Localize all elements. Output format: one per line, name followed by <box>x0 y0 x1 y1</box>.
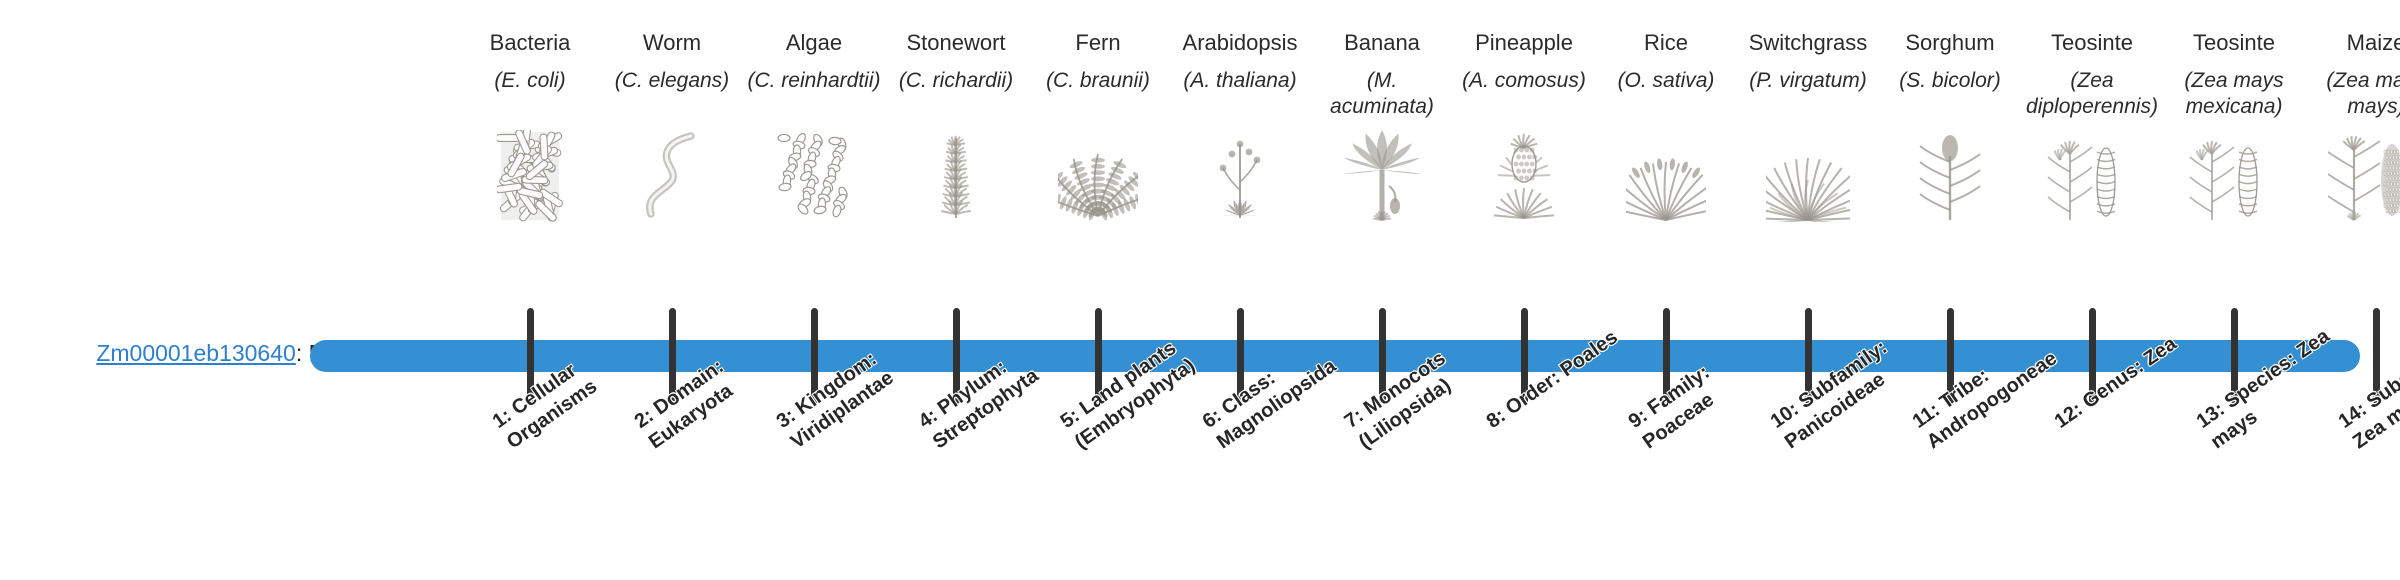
species-scientific-name: (C. elegans) <box>601 68 743 124</box>
pineapple-icon <box>1453 130 1595 222</box>
phylostratum-label[interactable]: 9: Family: Poaceae <box>1624 314 1796 455</box>
stonewort-icon <box>885 130 1027 222</box>
species-column: Switchgrass(P. virgatum) <box>1737 30 1879 222</box>
phylostratum-label[interactable]: 5: Land plants (Embryophyta) <box>1056 314 1228 455</box>
species-column: Algae(C. reinhardtii) <box>743 30 885 222</box>
species-common-name: Teosinte <box>2163 30 2305 60</box>
phylostratum-label[interactable]: 2: Domain: Eukaryota <box>630 314 802 455</box>
species-scientific-name: (S. bicolor) <box>1879 68 2021 124</box>
banana-icon <box>1311 130 1453 222</box>
phylostratum-label[interactable]: 10: Subfamily: Panicoideae <box>1766 314 1938 455</box>
arabidopsis-icon <box>1169 130 1311 222</box>
species-scientific-name: (E. coli) <box>459 68 601 124</box>
species-common-name: Banana <box>1311 30 1453 60</box>
sorghum-icon <box>1879 130 2021 222</box>
phylostratum-label[interactable]: 3: Kingdom: Viridiplantae <box>772 314 944 455</box>
teosinte-ear-icon <box>2021 130 2163 222</box>
species-common-name: Teosinte <box>2021 30 2163 60</box>
species-scientific-name: (A. thaliana) <box>1169 68 1311 124</box>
phylostratigraphy-figure: Zm00001eb130640: Phylostratum 1 Bacteria… <box>0 0 2400 580</box>
phylostratum-label[interactable]: 12: Genus: Zea <box>2050 314 2208 435</box>
rice-icon <box>1595 130 1737 222</box>
species-common-name: Pineapple <box>1453 30 1595 60</box>
bacteria-icon <box>459 130 601 222</box>
species-common-name: Rice <box>1595 30 1737 60</box>
species-column: Bacteria(E. coli) <box>459 30 601 222</box>
phylostratum-label[interactable]: 13: Species: Zea mays <box>2192 314 2364 455</box>
species-common-name: Switchgrass <box>1737 30 1879 60</box>
switchgrass-icon <box>1737 130 1879 222</box>
species-scientific-name: (Zea mays mays) <box>2305 68 2400 124</box>
species-common-name: Arabidopsis <box>1169 30 1311 60</box>
species-scientific-name: (M. acuminata) <box>1311 68 1453 124</box>
species-common-name: Maize <box>2305 30 2400 60</box>
species-column: Teosinte(Zea diploperennis) <box>2021 30 2163 222</box>
species-common-name: Worm <box>601 30 743 60</box>
species-column: Maize(Zea mays mays) <box>2305 30 2400 222</box>
species-column: Stonewort(C. richardii) <box>885 30 1027 222</box>
teosinte-ear-icon <box>2163 130 2305 222</box>
worm-icon <box>601 130 743 222</box>
species-common-name: Algae <box>743 30 885 60</box>
algae-icon <box>743 130 885 222</box>
phylostratum-label[interactable]: 7: Monocots (Liliopsida) <box>1340 314 1512 455</box>
phylostratum-label[interactable]: 6: Class: Magnoliopsida <box>1198 314 1370 455</box>
species-column: Fern(C. braunii) <box>1027 30 1169 222</box>
phylostratum-label[interactable]: 1: Cellular Organisms <box>488 314 660 455</box>
species-column: Rice(O. sativa) <box>1595 30 1737 222</box>
species-scientific-name: (C. reinhardtii) <box>743 68 885 124</box>
maize-ear-icon <box>2305 130 2400 222</box>
species-scientific-name: (Zea diploperennis) <box>2021 68 2163 124</box>
species-common-name: Fern <box>1027 30 1169 60</box>
species-column: Worm(C. elegans) <box>601 30 743 222</box>
phylostratum-label[interactable]: 11: Tribe: Andropogoneae <box>1908 314 2080 455</box>
gene-id-link[interactable]: Zm00001eb130640 <box>96 340 296 366</box>
species-column: Arabidopsis(A. thaliana) <box>1169 30 1311 222</box>
fern-icon <box>1027 130 1169 222</box>
gene-label-separator: : <box>296 340 309 366</box>
species-column: Sorghum(S. bicolor) <box>1879 30 2021 222</box>
phylostratum-label[interactable]: 8: Order: Poales <box>1482 314 1640 435</box>
species-scientific-name: (P. virgatum) <box>1737 68 1879 124</box>
species-column: Banana(M. acuminata) <box>1311 30 1453 222</box>
species-common-name: Sorghum <box>1879 30 2021 60</box>
species-scientific-name: (O. sativa) <box>1595 68 1737 124</box>
species-column: Teosinte(Zea mays mexicana) <box>2163 30 2305 222</box>
species-common-name: Stonewort <box>885 30 1027 60</box>
species-scientific-name: (C. richardii) <box>885 68 1027 124</box>
species-column: Pineapple(A. comosus) <box>1453 30 1595 222</box>
species-scientific-name: (Zea mays mexicana) <box>2163 68 2305 124</box>
species-scientific-name: (A. comosus) <box>1453 68 1595 124</box>
species-scientific-name: (C. braunii) <box>1027 68 1169 124</box>
phylostratum-label[interactable]: 4: Phylum: Streptophyta <box>914 314 1086 455</box>
species-common-name: Bacteria <box>459 30 601 60</box>
